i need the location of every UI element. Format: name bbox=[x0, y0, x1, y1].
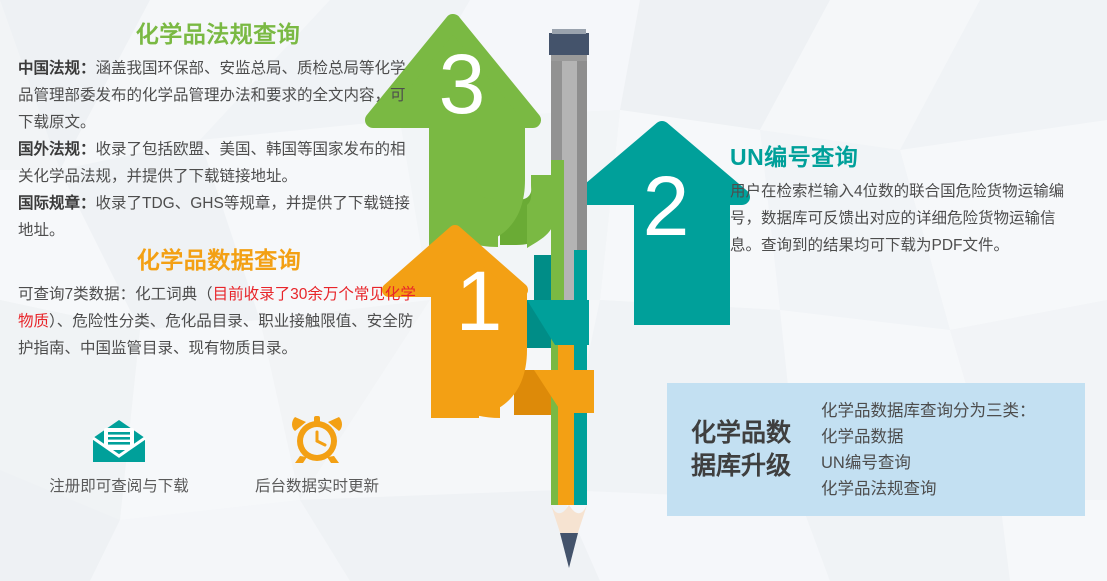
regulation-label-1: 国外法规： bbox=[18, 141, 96, 158]
feature-realtime-update: 后台数据实时更新 bbox=[242, 408, 392, 496]
regulation-label-2: 国际规章： bbox=[18, 195, 96, 212]
pencil-graphite bbox=[560, 533, 578, 568]
database-upgrade-card: 化学品数 据库升级 化学品数据库查询分为三类： 化学品数据 UN编号查询 化学品… bbox=[667, 383, 1085, 516]
arrow-step-2: 2 bbox=[582, 129, 742, 325]
arrow-3-number: 3 bbox=[439, 37, 486, 131]
upgrade-card-list: 化学品数据库查询分为三类： 化学品数据 UN编号查询 化学品法规查询 bbox=[821, 398, 1036, 502]
regulation-label-0: 中国法规： bbox=[18, 60, 96, 77]
regulation-line-0: 中国法规：涵盖我国环保部、安监总局、质检总局等化学品管理部委发布的化学品管理办法… bbox=[18, 55, 418, 136]
upgrade-item-0: 化学品数据库查询分为三类： bbox=[821, 398, 1036, 424]
upgrade-heading-line-2: 据库升级 bbox=[691, 450, 807, 483]
arrow-1-number: 1 bbox=[456, 254, 503, 348]
regulation-panel: 化学品法规查询 中国法规：涵盖我国环保部、安监总局、质检总局等化学品管理部委发布… bbox=[18, 22, 418, 244]
regulation-line-2: 国际规章：收录了TDG、GHS等规章，并提供了下载链接地址。 bbox=[18, 190, 418, 244]
upgrade-item-3: 化学品法规查询 bbox=[821, 476, 1036, 502]
feature-register-download: 注册即可查阅与下载 bbox=[44, 408, 194, 496]
envelope-mail-icon bbox=[44, 408, 194, 464]
arrow-2-number: 2 bbox=[643, 159, 690, 253]
regulation-line-1: 国外法规：收录了包括欧盟、美国、韩国等国家发布的相关化学品法规，并提供了下载链接… bbox=[18, 136, 418, 190]
pencil-eraser-top bbox=[552, 29, 586, 34]
pencil bbox=[549, 29, 589, 568]
feature-label-0: 注册即可查阅与下载 bbox=[44, 474, 194, 496]
pencil-eraser bbox=[549, 33, 589, 55]
feature-label-1: 后台数据实时更新 bbox=[242, 474, 392, 496]
upgrade-card-heading: 化学品数 据库升级 bbox=[691, 417, 807, 483]
regulation-title: 化学品法规查询 bbox=[18, 22, 418, 47]
un-text: 用户在检索栏输入4位数的联合国危险货物运输编号，数据库可反馈出对应的详细危险货物… bbox=[730, 178, 1080, 259]
alarm-clock-icon bbox=[242, 408, 392, 464]
upgrade-heading-line-1: 化学品数 bbox=[691, 417, 807, 450]
upgrade-item-2: UN编号查询 bbox=[821, 450, 1036, 476]
infographic-canvas: 3 2 1 bbox=[0, 0, 1107, 581]
chemical-data-panel: 化学品数据查询 可查询7类数据：化工词典（目前收录了30余万个常见化学物质）、危… bbox=[18, 248, 420, 362]
un-number-panel: UN编号查询 用户在检索栏输入4位数的联合国危险货物运输编号，数据库可反馈出对应… bbox=[730, 145, 1080, 259]
chemical-data-text-after: ）、危险性分类、危化品目录、职业接触限值、安全防护指南、中国监管目录、现有物质目… bbox=[18, 313, 413, 357]
chemical-data-text: 可查询7类数据：化工词典（目前收录了30余万个常见化学物质）、危险性分类、危化品… bbox=[18, 281, 420, 362]
chemical-data-title: 化学品数据查询 bbox=[18, 248, 420, 273]
upgrade-item-1: 化学品数据 bbox=[821, 424, 1036, 450]
chemical-data-text-before: 可查询7类数据：化工词典（ bbox=[18, 286, 213, 303]
un-title: UN编号查询 bbox=[730, 145, 1080, 170]
